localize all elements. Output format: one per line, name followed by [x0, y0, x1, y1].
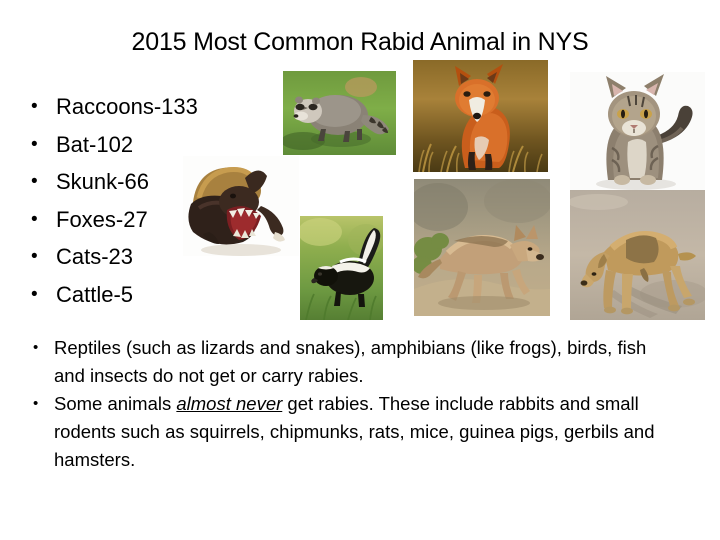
- list-item-foxes: • Foxes-27: [31, 201, 281, 239]
- raccoon-photo: [283, 71, 396, 155]
- list-item-cats: • Cats-23: [31, 238, 281, 276]
- list-item-text: Reptiles (such as lizards and snakes), a…: [54, 337, 646, 386]
- list-item-label: Skunk-66: [56, 169, 149, 194]
- animal-counts-list: • Raccoons-133 • Bat-102 • Skunk-66 • Fo…: [31, 88, 281, 313]
- cat-photo: [570, 72, 705, 190]
- list-item-almost-never: • Some animals almost never get rabies. …: [31, 390, 681, 474]
- bullet-icon: •: [31, 163, 45, 201]
- list-item-raccoons: • Raccoons-133: [31, 88, 281, 126]
- slide-canvas: 2015 Most Common Rabid Animal in NYS: [0, 0, 720, 540]
- bullet-icon: •: [31, 88, 45, 126]
- list-item-label: Bat-102: [56, 132, 133, 157]
- bullet-icon: •: [33, 334, 47, 362]
- list-item-label: Raccoons-133: [56, 94, 198, 119]
- bullet-icon: •: [31, 276, 45, 314]
- list-item-label: Cattle-5: [56, 282, 133, 307]
- list-item-non-carriers: • Reptiles (such as lizards and snakes),…: [31, 334, 681, 390]
- bullet-icon: •: [33, 390, 47, 418]
- list-item-label: Cats-23: [56, 244, 133, 269]
- bullet-icon: •: [31, 201, 45, 239]
- dog-photo: [570, 190, 705, 320]
- rabies-facts-list: • Reptiles (such as lizards and snakes),…: [31, 334, 681, 474]
- fox-photo: [413, 60, 548, 172]
- list-item-bat: • Bat-102: [31, 126, 281, 164]
- skunk-photo: [300, 216, 383, 320]
- bullet-icon: •: [31, 126, 45, 164]
- coyote-photo: [414, 179, 550, 316]
- bullet-icon: •: [31, 238, 45, 276]
- emphasis-text: almost never: [176, 393, 282, 414]
- list-item-text-part1: Some animals: [54, 393, 176, 414]
- page-title: 2015 Most Common Rabid Animal in NYS: [30, 27, 690, 57]
- list-item-skunk: • Skunk-66: [31, 163, 281, 201]
- list-item-label: Foxes-27: [56, 207, 148, 232]
- list-item-cattle: • Cattle-5: [31, 276, 281, 314]
